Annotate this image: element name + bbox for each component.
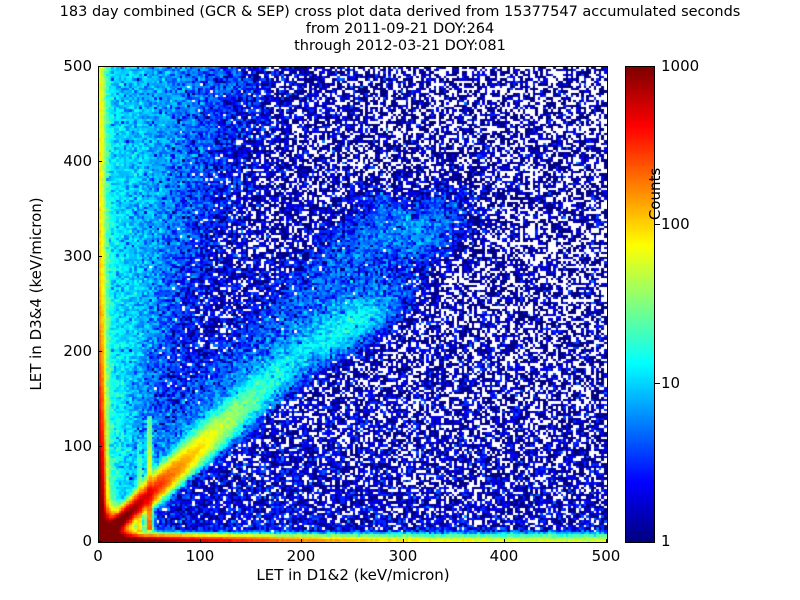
- x-tick-100: [200, 539, 201, 543]
- x-tick-200: [301, 539, 302, 543]
- x-tick-label-100: 100: [170, 547, 230, 565]
- x-tick-500: [606, 539, 607, 543]
- x-tick-label-300: 300: [373, 547, 433, 565]
- histogram-2d-canvas: [99, 67, 607, 542]
- plot-title: 183 day combined (GCR & SEP) cross plot …: [0, 4, 800, 55]
- x-axis-label: LET in D1&2 (keV/micron): [98, 566, 608, 584]
- y-tick-label-0: 0: [32, 532, 92, 550]
- x-tick-label-500: 500: [576, 547, 636, 565]
- colorbar-tick-10: [655, 383, 660, 384]
- y-tick-100: [98, 446, 102, 447]
- x-tick-300: [403, 539, 404, 543]
- y-tick-label-100: 100: [32, 437, 92, 455]
- colorbar-tick-label-100: 100: [661, 215, 690, 233]
- colorbar-tick-label-1000: 1000: [661, 57, 699, 75]
- y-tick-300: [98, 256, 102, 257]
- y-tick-200: [98, 351, 102, 352]
- x-tick-label-200: 200: [271, 547, 331, 565]
- colorbar-tick-label-10: 10: [661, 374, 680, 392]
- y-tick-500: [98, 66, 102, 67]
- title-line-1: 183 day combined (GCR & SEP) cross plot …: [0, 4, 800, 21]
- y-axis-label: LET in D3&4 (keV/micron): [27, 154, 45, 434]
- colorbar-label: Counts: [646, 94, 664, 294]
- y-tick-label-500: 500: [32, 57, 92, 75]
- colorbar-tick-label-1: 1: [661, 532, 671, 550]
- plot-area: [98, 66, 608, 543]
- title-line-3: through 2012-03-21 DOY:081: [0, 38, 800, 55]
- figure-canvas: 183 day combined (GCR & SEP) cross plot …: [0, 0, 800, 600]
- title-line-2: from 2011-09-21 DOY:264: [0, 21, 800, 38]
- y-tick-0: [98, 541, 102, 542]
- y-tick-400: [98, 161, 102, 162]
- x-tick-400: [504, 539, 505, 543]
- x-tick-label-400: 400: [474, 547, 534, 565]
